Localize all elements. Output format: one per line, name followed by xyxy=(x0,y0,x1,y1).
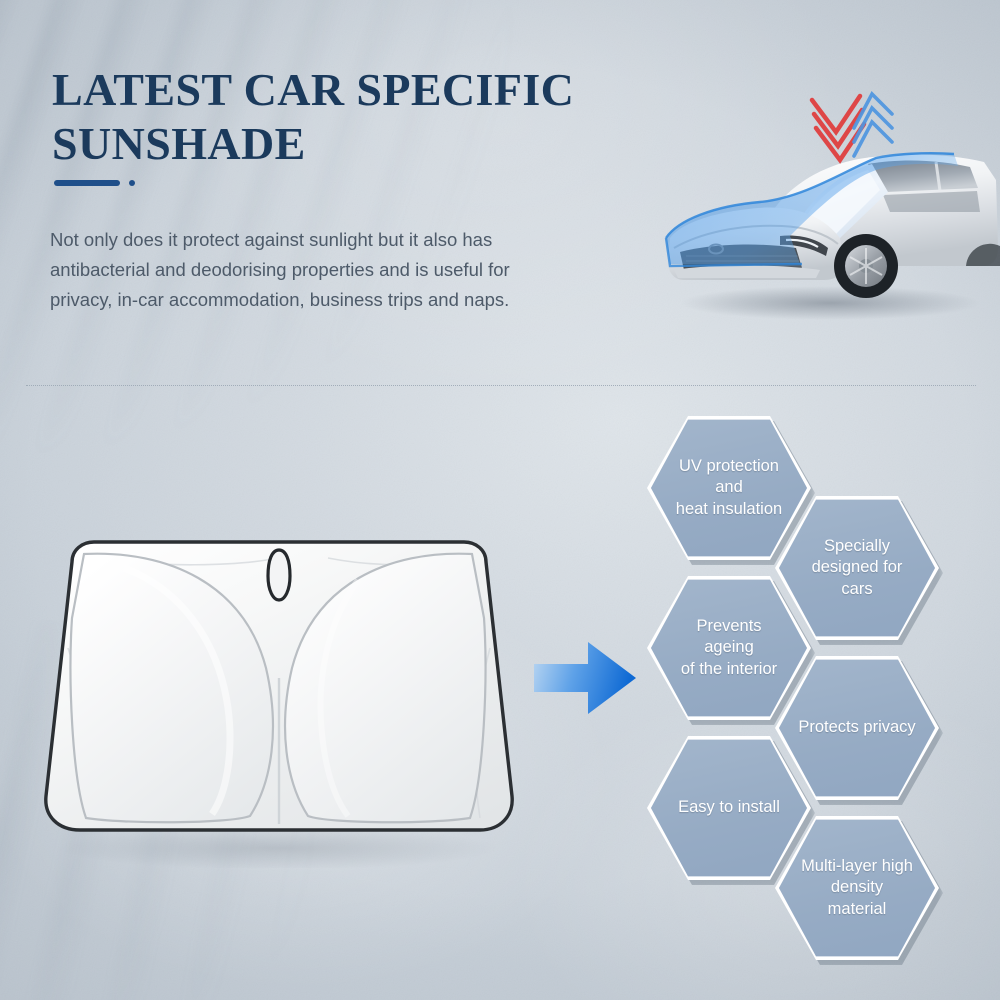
car-illustration xyxy=(640,88,1000,338)
title-accent-rule xyxy=(54,180,135,186)
section-divider xyxy=(26,385,976,386)
page-title: LATEST CAR SPECIFIC SUNSHADE xyxy=(52,63,652,171)
feature-hex-multi-layer-material[interactable]: Multi-layer highdensitymaterial xyxy=(775,813,939,963)
blue-chevron-reflect-icon xyxy=(854,94,892,156)
sunshade-product-photo xyxy=(28,528,528,868)
feature-hex-label: UV protectionandheat insulation xyxy=(676,456,782,520)
feature-hex-label: Protects privacy xyxy=(798,717,915,738)
feature-hex-label: Speciallydesigned forcars xyxy=(812,536,903,600)
feature-hex-label: Multi-layer highdensitymaterial xyxy=(801,856,913,920)
accent-bar xyxy=(54,180,120,186)
feature-hexagon-cluster: UV protectionandheat insulation Speciall… xyxy=(645,405,1000,965)
feature-hex-label: Easy to install xyxy=(678,797,780,818)
headline-block: LATEST CAR SPECIFIC SUNSHADE xyxy=(52,63,652,171)
feature-hex-label: Preventsageingof the interior xyxy=(681,616,777,680)
product-marketing-banner: LATEST CAR SPECIFIC SUNSHADE Not only do… xyxy=(0,0,1000,1000)
body-copy: Not only does it protect against sunligh… xyxy=(50,225,560,315)
accent-dot xyxy=(129,180,135,186)
right-arrow-icon xyxy=(532,632,642,724)
